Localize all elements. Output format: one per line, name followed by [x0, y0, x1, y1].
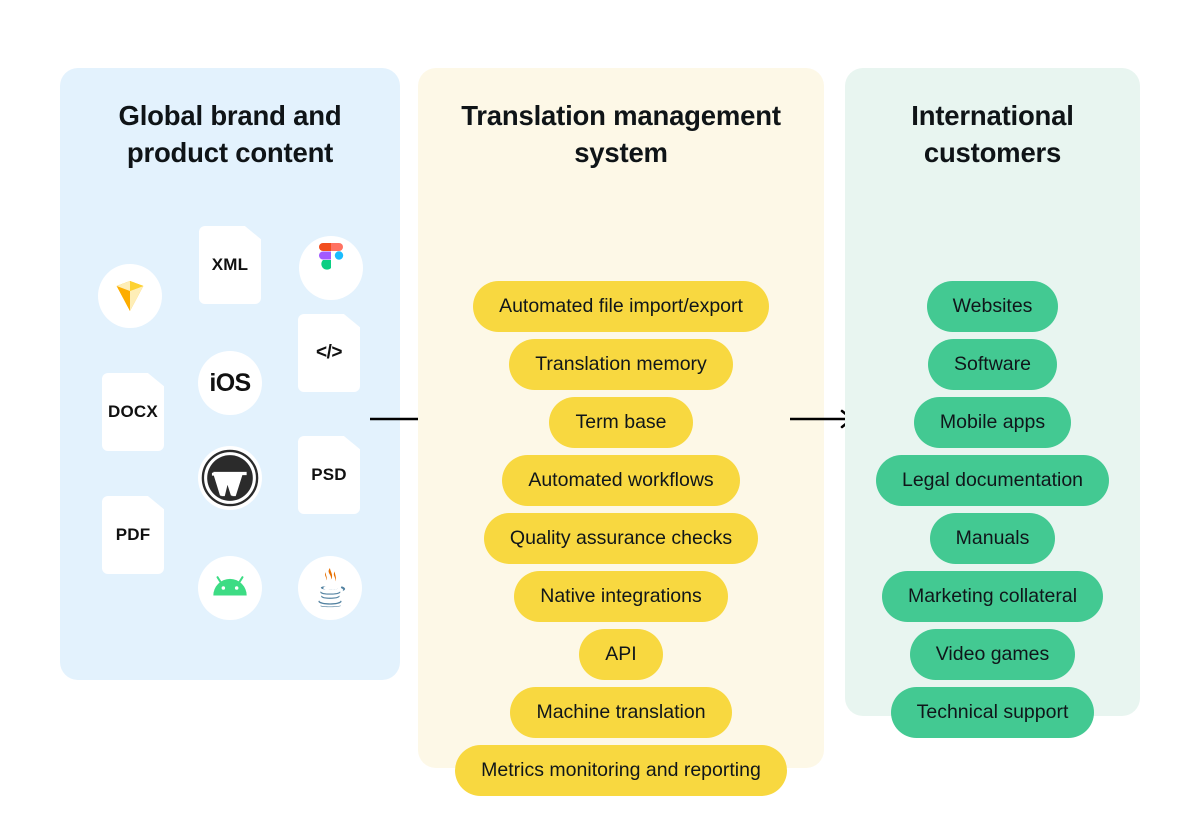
pill-manuals[interactable]: Manuals: [930, 513, 1056, 564]
pill-term-base[interactable]: Term base: [549, 397, 692, 448]
xml-file-icon: XML: [199, 226, 261, 304]
panel-title-middle: Translation management system: [418, 98, 824, 171]
ios-icon: iOS: [198, 351, 262, 415]
icon-cell-docx[interactable]: DOCX: [102, 373, 164, 451]
code-file-icon: </>: [298, 314, 360, 392]
pdf-file-icon: PDF: [102, 496, 164, 574]
figma-icon: [299, 236, 363, 300]
icon-cell-code[interactable]: </>: [298, 314, 360, 392]
icon-cell-sketch[interactable]: [98, 264, 162, 328]
icon-cell-xml[interactable]: XML: [199, 226, 261, 304]
panel-international-customers: International customers Websites Softwar…: [845, 68, 1140, 716]
pill-software[interactable]: Software: [928, 339, 1057, 390]
icon-cell-java[interactable]: [298, 556, 362, 620]
customer-output-list: Websites Software Mobile apps Legal docu…: [845, 281, 1140, 738]
pill-websites[interactable]: Websites: [927, 281, 1059, 332]
panel-translation-management-system: Translation management system Automated …: [418, 68, 824, 768]
diagram-canvas: Global brand and product content: [0, 0, 1200, 838]
psd-file-label: PSD: [311, 465, 347, 485]
pill-native-integrations[interactable]: Native integrations: [514, 571, 728, 622]
android-icon: [198, 556, 262, 620]
tms-feature-list: Automated file import/export Translation…: [418, 281, 824, 796]
icon-cell-pdf[interactable]: PDF: [102, 496, 164, 574]
pill-mobile-apps[interactable]: Mobile apps: [914, 397, 1071, 448]
code-file-label: </>: [316, 342, 342, 364]
icon-cell-figma[interactable]: [299, 236, 363, 300]
pill-legal-documentation[interactable]: Legal documentation: [876, 455, 1109, 506]
panel-global-brand-and-product-content: Global brand and product content: [60, 68, 400, 680]
source-format-icon-grid: DOCX PDF XML iOS: [60, 68, 400, 680]
pill-metrics-monitoring-and-reporting[interactable]: Metrics monitoring and reporting: [455, 745, 787, 796]
icon-cell-wordpress[interactable]: [198, 446, 262, 510]
pill-translation-memory[interactable]: Translation memory: [509, 339, 733, 390]
panel-title-right: International customers: [845, 98, 1140, 171]
docx-file-icon: DOCX: [102, 373, 164, 451]
docx-file-label: DOCX: [108, 402, 158, 422]
wordpress-icon: [198, 446, 262, 510]
pill-video-games[interactable]: Video games: [910, 629, 1075, 680]
pill-machine-translation[interactable]: Machine translation: [510, 687, 731, 738]
pill-automated-file-import-export[interactable]: Automated file import/export: [473, 281, 769, 332]
icon-cell-psd[interactable]: PSD: [298, 436, 360, 514]
icon-cell-android[interactable]: [198, 556, 262, 620]
psd-file-icon: PSD: [298, 436, 360, 514]
sketch-icon: [98, 264, 162, 328]
pill-technical-support[interactable]: Technical support: [891, 687, 1095, 738]
pdf-file-label: PDF: [116, 525, 151, 545]
ios-label: iOS: [209, 369, 250, 398]
pill-automated-workflows[interactable]: Automated workflows: [502, 455, 739, 506]
java-icon: [298, 556, 362, 620]
pill-quality-assurance-checks[interactable]: Quality assurance checks: [484, 513, 758, 564]
pill-api[interactable]: API: [579, 629, 662, 680]
xml-file-label: XML: [212, 255, 248, 275]
icon-cell-ios[interactable]: iOS: [198, 351, 262, 415]
pill-marketing-collateral[interactable]: Marketing collateral: [882, 571, 1103, 622]
